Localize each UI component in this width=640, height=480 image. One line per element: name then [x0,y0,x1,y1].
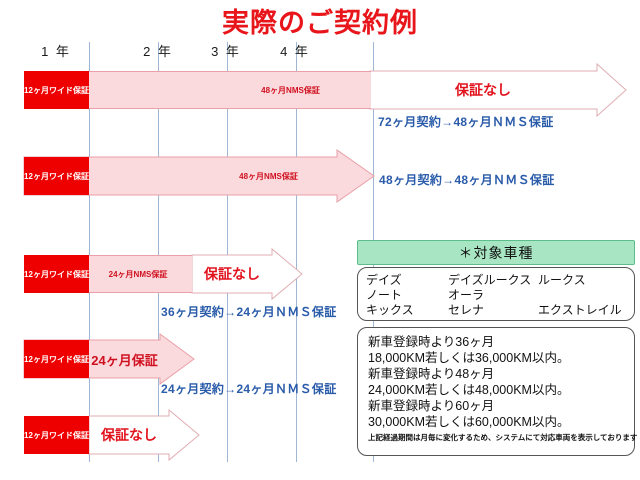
row-36-wide-label: 12ヶ月ワイド保証 [24,269,89,280]
row-24-wide-label: 12ヶ月ワイド保証 [24,354,89,365]
vehicle-name: キックス [366,303,448,318]
vehicle-row: ノート オーラ [366,288,626,303]
row-36-no-warranty-label: 保証なし [204,264,260,284]
row-36-note: 36ヶ月契約→24ヶ月ＮＭＳ保証 [161,303,337,320]
condition-line: 新車登録時より48ヶ月 [368,366,624,382]
vehicle-name: セレナ [448,303,538,318]
row-48-nms-label: 48ヶ月NMS保証 [239,171,298,182]
condition-line: 新車登録時より36ヶ月 [368,334,624,350]
condition-line: 24,000KM若しくは48,000KM以内。 [368,382,624,398]
row-36-nms-label: 24ヶ月NMS保証 [109,269,168,280]
vehicle-name: オーラ [448,288,538,303]
row-12-no-warranty-label-box: 保証なし [89,416,169,454]
row-24-nms-label-box: 24ヶ月保証 [89,340,160,378]
row-72-wide-segment: 12ヶ月ワイド保証 [24,71,89,109]
year-label-3: 3 年 [192,44,260,60]
row-72-nms-label: 48ヶ月NMS保証 [261,85,320,96]
vehicle-name: デイズ [366,273,448,288]
row-36-no-warranty-label-box: 保証なし [192,255,272,293]
vehicle-row: キックス セレナ エクストレイル [366,303,626,318]
row-24-nms-label: 24ヶ月保証 [91,350,157,369]
row-24-note: 24ヶ月契約→24ヶ月ＮＭＳ保証 [161,380,337,397]
vehicle-name: ルークス [538,273,626,288]
row-12-wide-label: 12ヶ月ワイド保証 [24,430,89,441]
vehicle-panel-header: ＊対象車種 [357,240,635,265]
vehicle-panel-box: デイズ デイズルークス ルークス ノート オーラ キックス セレナ エクストレイ… [357,267,635,321]
year-label-1: 1 年 [22,44,90,60]
condition-footnote: 上記経過期間は月毎に変化するため、システムにて対応車両を表示しております [368,432,624,443]
row-48-note: 48ヶ月契約→48ヶ月ＮＭＳ保証 [379,171,555,188]
row-72-note: 72ヶ月契約→48ヶ月ＮＭＳ保証 [378,113,554,130]
row-72-no-warranty-label-box: 保証なし [370,71,596,109]
vehicle-row: デイズ デイズルークス ルークス [366,273,626,288]
condition-line: 30,000KM若しくは60,000KM以内。 [368,414,624,430]
vehicle-name: ノート [366,288,448,303]
condition-line: 新車登録時より60ヶ月 [368,398,624,414]
row-12-no-warranty-label: 保証なし [101,425,157,445]
vehicle-name: デイズルークス [448,273,538,288]
row-36-wide-segment: 12ヶ月ワイド保証 [24,255,89,293]
row-24-wide-segment: 12ヶ月ワイド保証 [24,340,89,378]
vehicle-name [538,288,626,303]
row-48-wide-label: 12ヶ月ワイド保証 [24,171,89,182]
row-12-wide-segment: 12ヶ月ワイド保証 [24,416,89,454]
row-48-wide-segment: 12ヶ月ワイド保証 [24,157,89,195]
contract-example-diagram: 実際のご契約例 1 年 2 年 3 年 4 年 保証なし 48ヶ月NMS保証 1… [0,0,640,480]
condition-panel-box: 新車登録時より36ヶ月 18,000KM若しくは36,000KM以内。 新車登録… [357,327,635,456]
row-72-wide-label: 12ヶ月ワイド保証 [24,85,89,96]
row-72-no-warranty-label: 保証なし [455,80,511,100]
year-label-4: 4 年 [261,44,329,60]
vehicle-name: エクストレイル [538,303,626,318]
year-label-2: 2 年 [124,44,192,60]
page-title: 実際のご契約例 [0,6,640,40]
condition-line: 18,000KM若しくは36,000KM以内。 [368,350,624,366]
